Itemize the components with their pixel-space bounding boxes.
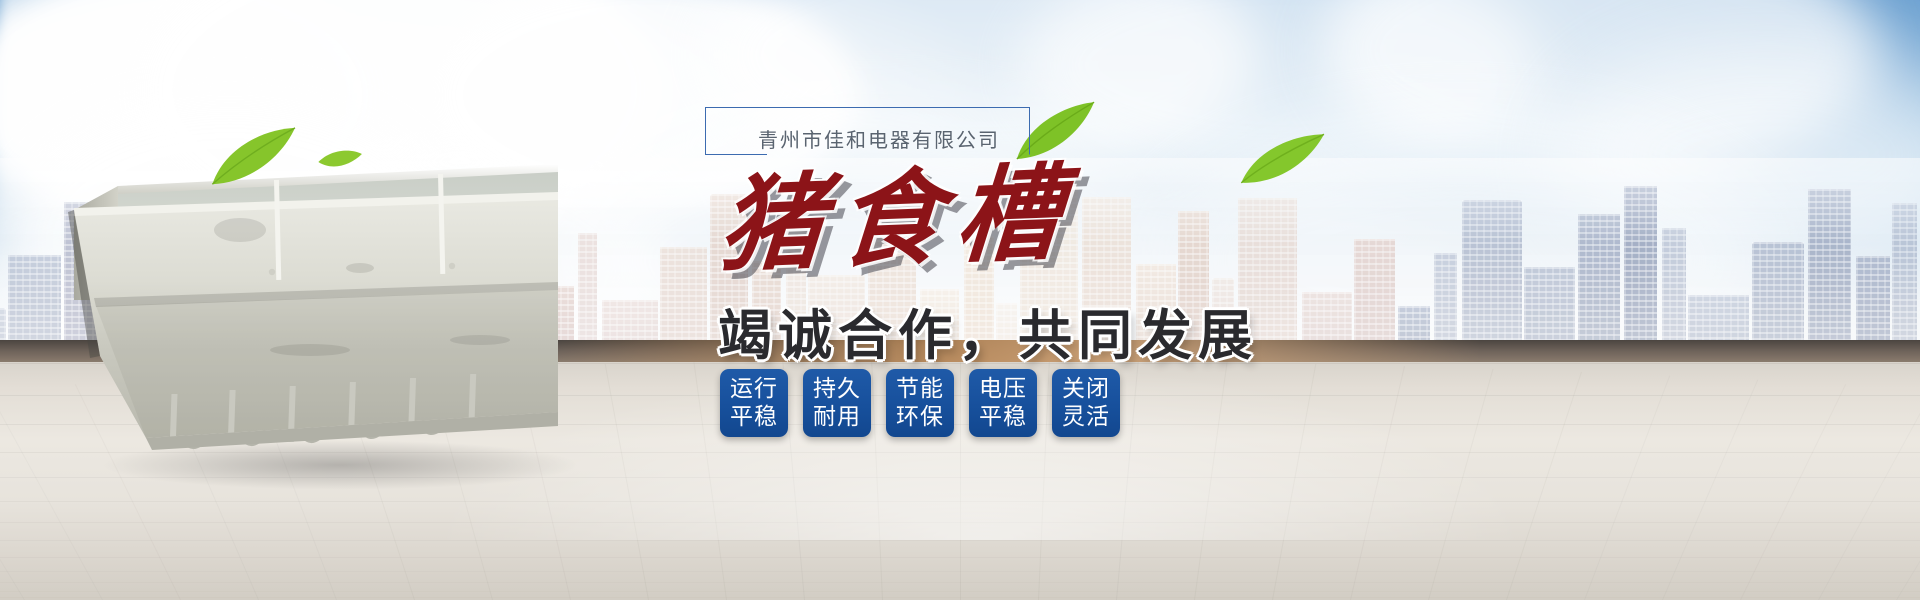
product-image-pig-feeder <box>60 150 580 480</box>
promo-banner: 青州市佳和电器有限公司 猪食槽 竭诚合作，共同发展 运行平稳持久耐用节能环保电压… <box>0 0 1920 600</box>
feature-badge[interactable]: 节能环保 <box>886 369 954 437</box>
tile-seam-vertical <box>1818 389 1920 600</box>
headline-title: 猪食槽 <box>716 159 1078 279</box>
company-name: 青州市佳和电器有限公司 <box>758 124 1000 153</box>
feature-badge-line1: 节能 <box>896 375 944 403</box>
feature-badge-line1: 关闭 <box>1062 375 1110 403</box>
feature-badge-list: 运行平稳持久耐用节能环保电压平稳关闭灵活 <box>720 369 1120 437</box>
feature-badge-line2: 平稳 <box>979 403 1027 431</box>
company-name-frame-bottom <box>705 154 767 155</box>
feature-badge[interactable]: 关闭灵活 <box>1052 369 1120 437</box>
feature-badge[interactable]: 电压平稳 <box>969 369 1037 437</box>
feature-badge-line2: 灵活 <box>1062 403 1110 431</box>
slogan-text: 竭诚合作，共同发展 <box>718 291 1258 370</box>
tile-seam-vertical <box>1584 375 1670 600</box>
feature-badge-line1: 运行 <box>730 375 778 403</box>
feature-badge-line1: 持久 <box>813 375 861 403</box>
feature-badge-line1: 电压 <box>979 375 1027 403</box>
feature-badge-line2: 耐用 <box>813 403 861 431</box>
feature-badge[interactable]: 运行平稳 <box>720 369 788 437</box>
tile-seam-vertical <box>1662 380 1758 600</box>
feature-badge-line2: 环保 <box>896 403 944 431</box>
feature-badge-line2: 平稳 <box>730 403 778 431</box>
tile-seam-vertical <box>1740 384 1846 600</box>
banner-text-block: 青州市佳和电器有限公司 猪食槽 竭诚合作，共同发展 运行平稳持久耐用节能环保电压… <box>700 96 1380 536</box>
feature-badge[interactable]: 持久耐用 <box>803 369 871 437</box>
trough-illustration <box>60 150 580 450</box>
